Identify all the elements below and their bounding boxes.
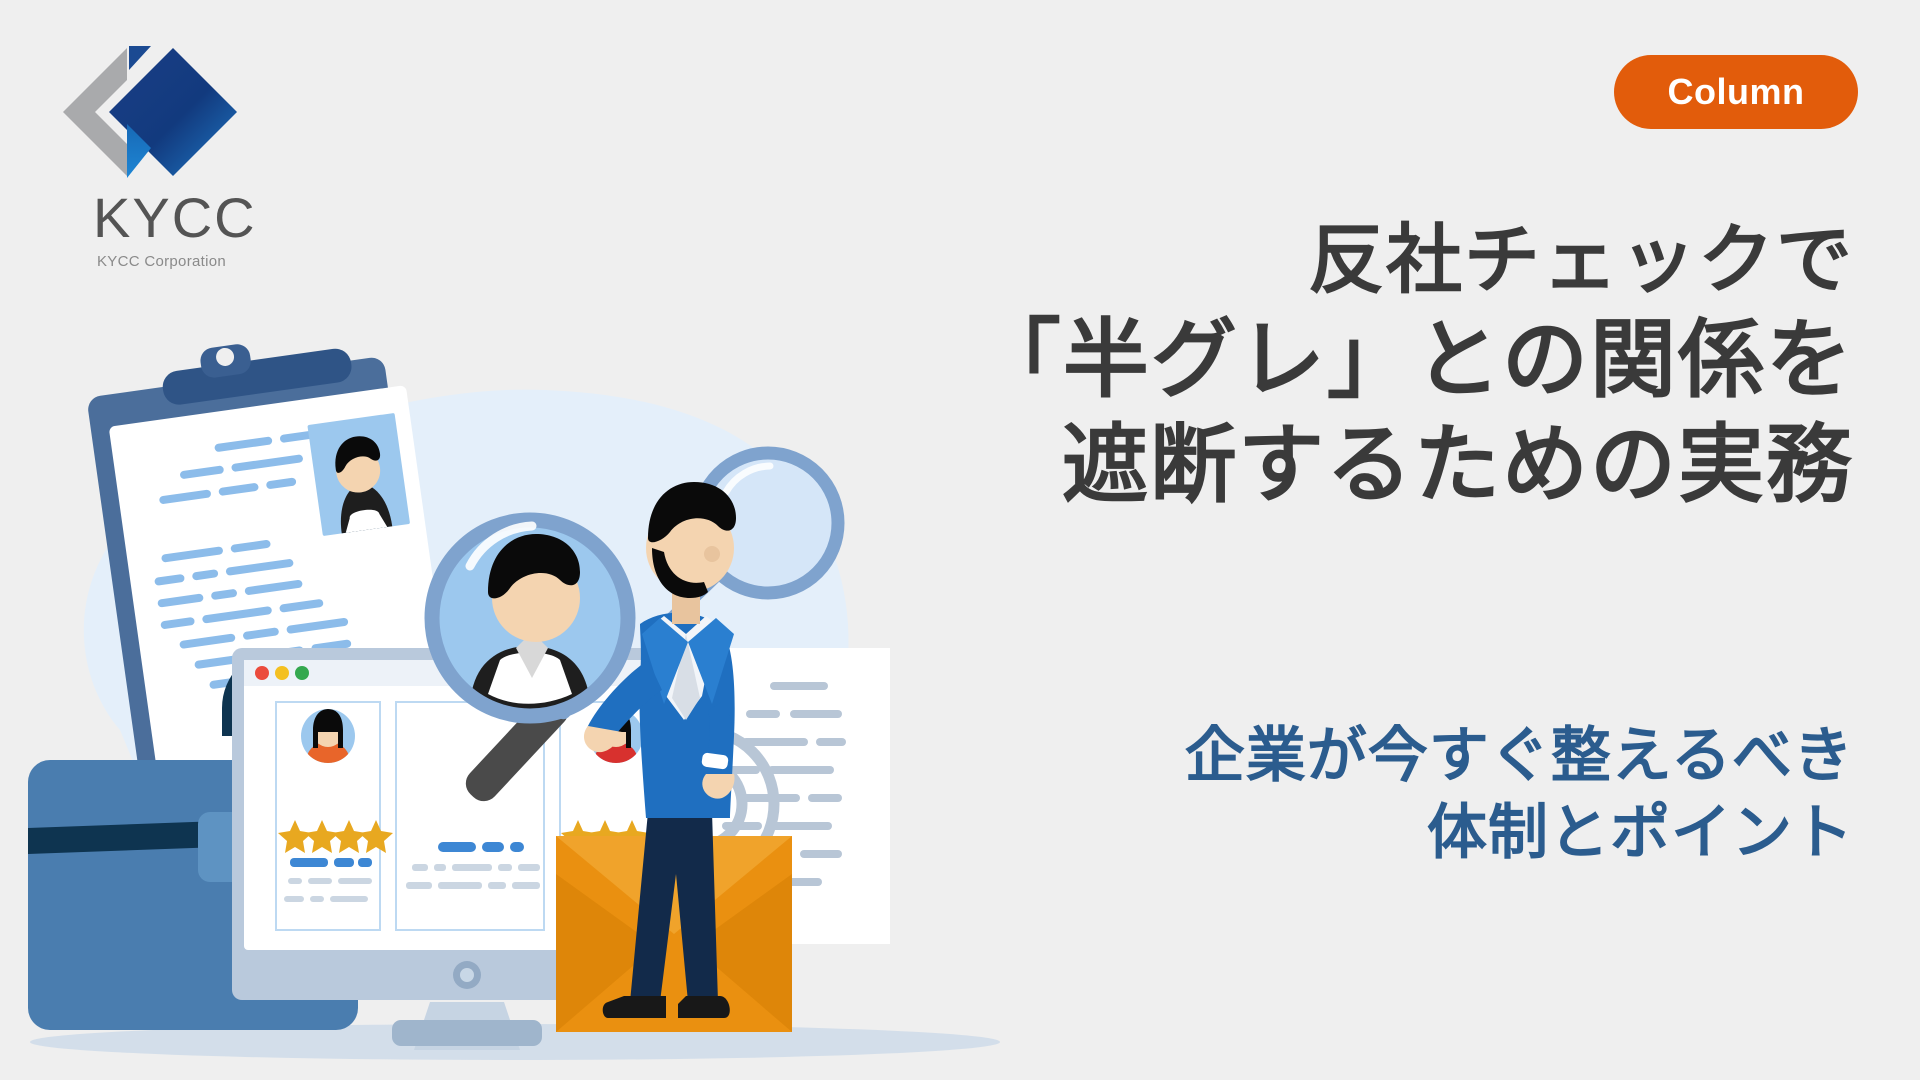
browser-dot-red <box>255 666 269 680</box>
logo-wordmark: KYCC <box>93 190 257 246</box>
logo-tagline: KYCC Corporation <box>97 254 226 269</box>
subhead-line-2: 体制とポイント <box>1185 795 1854 872</box>
column-badge[interactable]: Column <box>1614 55 1858 129</box>
kycc-diamond-mark-icon <box>55 40 245 185</box>
background-check-illustration <box>0 330 1110 1080</box>
browser-dot-green <box>295 666 309 680</box>
subhead-line-1: 企業が今すぐ整えるべき <box>1185 718 1854 795</box>
browser-dot-yellow <box>275 666 289 680</box>
resume-photo <box>307 413 410 536</box>
headline-line-1: 反社チェックで <box>975 215 1854 308</box>
page-subtitle: 企業が今すぐ整えるべき 体制とポイント <box>1185 718 1854 872</box>
kycc-logo: KYCC KYCC Corporation <box>55 40 285 270</box>
banner-canvas: KYCC KYCC Corporation Column 反社チェックで 「半グ… <box>0 0 1920 1080</box>
